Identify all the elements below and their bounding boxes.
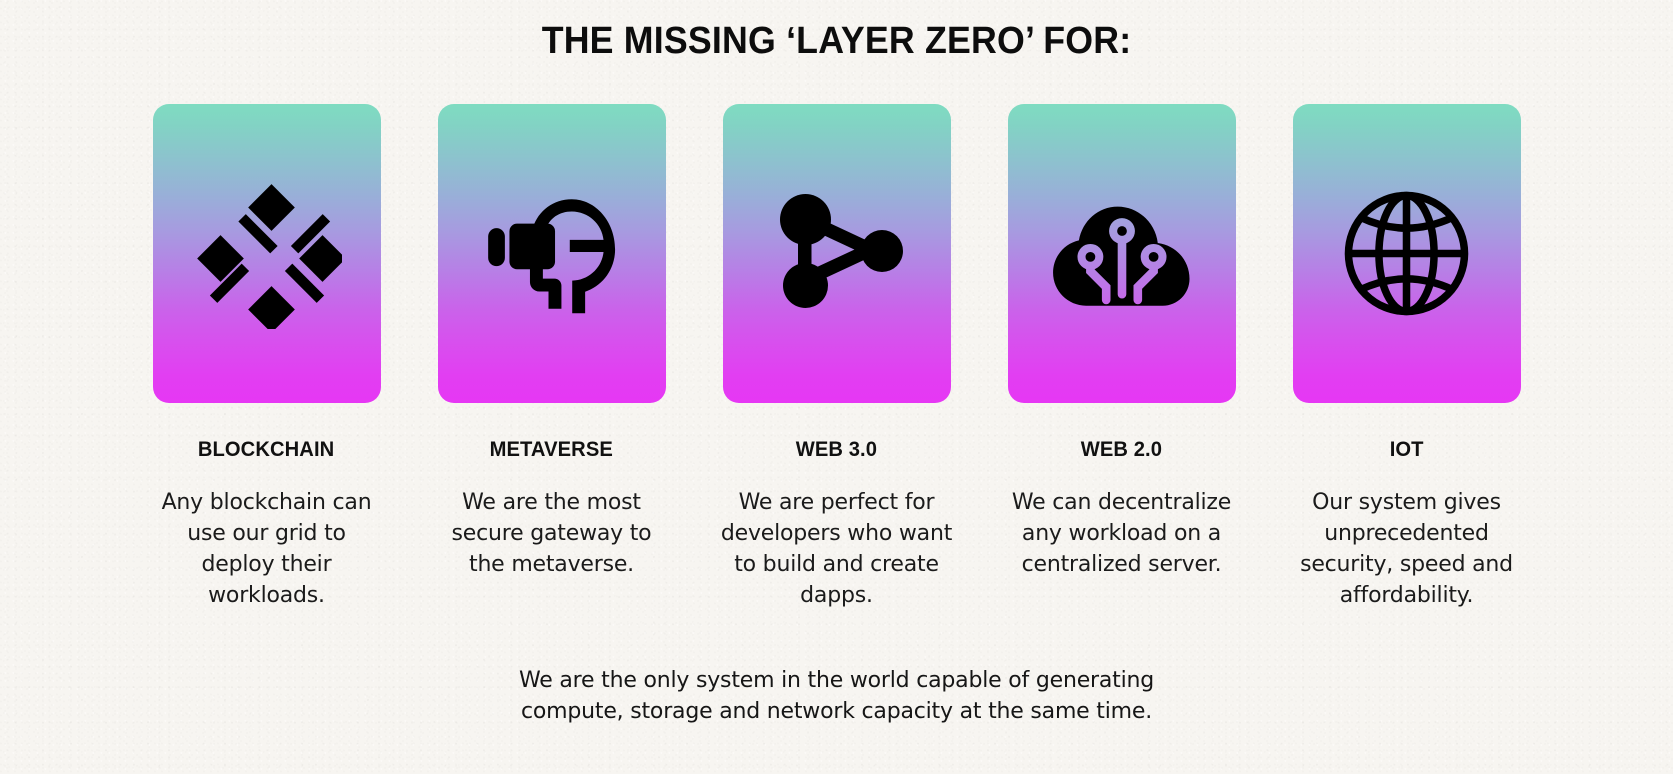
card-web3[interactable]: WEB 3.0 We are perfect for developers wh… bbox=[723, 104, 951, 611]
card-body-metaverse: We are the most secure gateway to the me… bbox=[434, 487, 670, 580]
vr-headset-head-icon bbox=[476, 178, 628, 330]
card-tile-blockchain[interactable] bbox=[153, 104, 381, 403]
blockchain-nodes-icon bbox=[192, 179, 342, 329]
card-body-web3: We are perfect for developers who want t… bbox=[719, 487, 955, 611]
card-heading-web3: WEB 3.0 bbox=[796, 438, 877, 462]
card-tile-web2[interactable] bbox=[1008, 104, 1236, 403]
card-heading-blockchain: BLOCKCHAIN bbox=[198, 438, 334, 462]
card-metaverse[interactable]: METAVERSE We are the most secure gateway… bbox=[438, 104, 666, 611]
card-tile-metaverse[interactable] bbox=[438, 104, 666, 403]
card-body-iot: Our system gives unprecedented security,… bbox=[1289, 487, 1525, 611]
card-heading-iot: IOT bbox=[1390, 438, 1424, 462]
network-share-nodes-icon bbox=[762, 179, 912, 329]
footer-line-2: compute, storage and network capacity at… bbox=[0, 696, 1673, 727]
card-tile-iot[interactable] bbox=[1293, 104, 1521, 403]
card-heading-metaverse: METAVERSE bbox=[490, 438, 613, 462]
footer-line-1: We are the only system in the world capa… bbox=[0, 665, 1673, 696]
globe-wireframe-icon bbox=[1334, 181, 1479, 326]
card-blockchain[interactable]: BLOCKCHAIN Any blockchain can use our gr… bbox=[153, 104, 381, 611]
card-body-web2: We can decentralize any workload on a ce… bbox=[1004, 487, 1240, 580]
card-tile-web3[interactable] bbox=[723, 104, 951, 403]
cloud-circuit-icon bbox=[1043, 175, 1201, 333]
card-iot[interactable]: IOT Our system gives unprecedented secur… bbox=[1293, 104, 1521, 611]
footer-tagline: We are the only system in the world capa… bbox=[0, 665, 1673, 727]
feature-cards-row: BLOCKCHAIN Any blockchain can use our gr… bbox=[0, 104, 1673, 611]
card-web2[interactable]: WEB 2.0 We can decentralize any workload… bbox=[1008, 104, 1236, 611]
layer-zero-section: THE MISSING ‘LAYER ZERO’ FOR: bbox=[0, 0, 1673, 774]
page-title: THE MISSING ‘LAYER ZERO’ FOR: bbox=[50, 22, 1623, 60]
card-heading-web2: WEB 2.0 bbox=[1081, 438, 1162, 462]
card-body-blockchain: Any blockchain can use our grid to deplo… bbox=[149, 487, 385, 611]
